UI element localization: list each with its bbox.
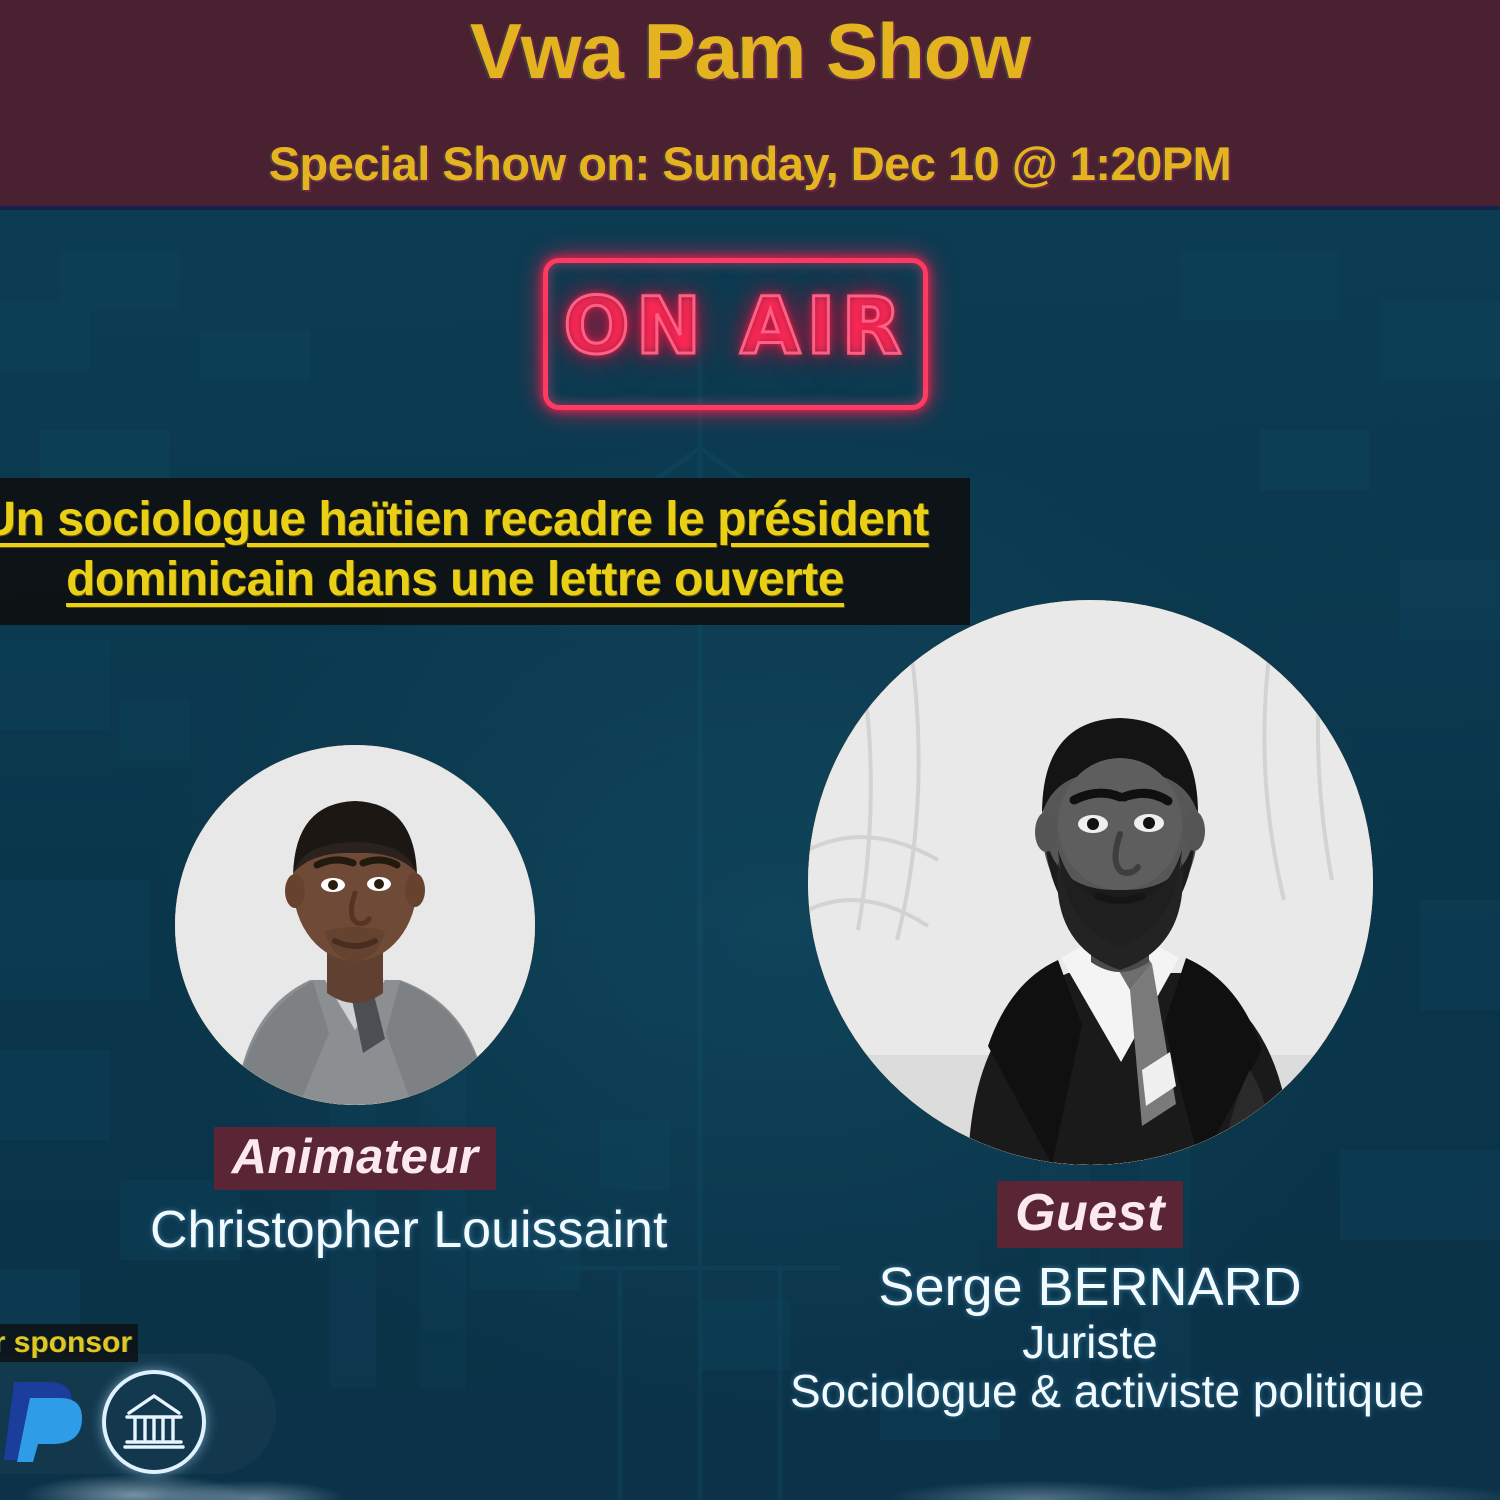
bank-glyph: [119, 1387, 189, 1457]
headline-line-1: Un sociologue haïtien recadre le préside…: [0, 490, 970, 550]
bank-icon[interactable]: [102, 1370, 206, 1474]
guest-card: Guest Serge BERNARD Juriste Sociologue &…: [790, 600, 1390, 1416]
host-avatar: [175, 745, 535, 1105]
poster-canvas: Vwa Pam Show Special Show on: Sunday, De…: [0, 0, 1500, 1500]
show-schedule-subtitle: Special Show on: Sunday, Dec 10 @ 1:20PM: [0, 136, 1500, 191]
header-banner: Vwa Pam Show Special Show on: Sunday, De…: [0, 0, 1500, 210]
host-portrait-illustration: [175, 745, 535, 1105]
host-card: Animateur Christopher Louissaint: [150, 745, 560, 1260]
guest-role-badge: Guest: [997, 1181, 1183, 1248]
sponsor-label: r sponsor: [0, 1324, 138, 1362]
paypal-glyph: [0, 1372, 86, 1464]
guest-photo: [808, 600, 1373, 1165]
host-name: Christopher Louissaint: [150, 1200, 560, 1260]
sponsor-bar: r sponsor Z: [0, 1330, 276, 1490]
guest-name: Serge BERNARD: [790, 1256, 1390, 1318]
on-air-label: ON AIR: [543, 288, 928, 366]
guest-title-line-1: Juriste: [790, 1318, 1390, 1367]
guest-title-line-2: Sociologue & activiste politique: [790, 1367, 1390, 1416]
on-air-sign: ON AIR: [543, 258, 928, 410]
host-role-badge: Animateur: [214, 1127, 497, 1190]
page-title: Vwa Pam Show: [0, 6, 1500, 97]
host-photo: [175, 745, 535, 1105]
paypal-icon[interactable]: [0, 1372, 86, 1464]
guest-avatar: [808, 600, 1373, 1165]
guest-portrait-illustration: [808, 600, 1373, 1165]
